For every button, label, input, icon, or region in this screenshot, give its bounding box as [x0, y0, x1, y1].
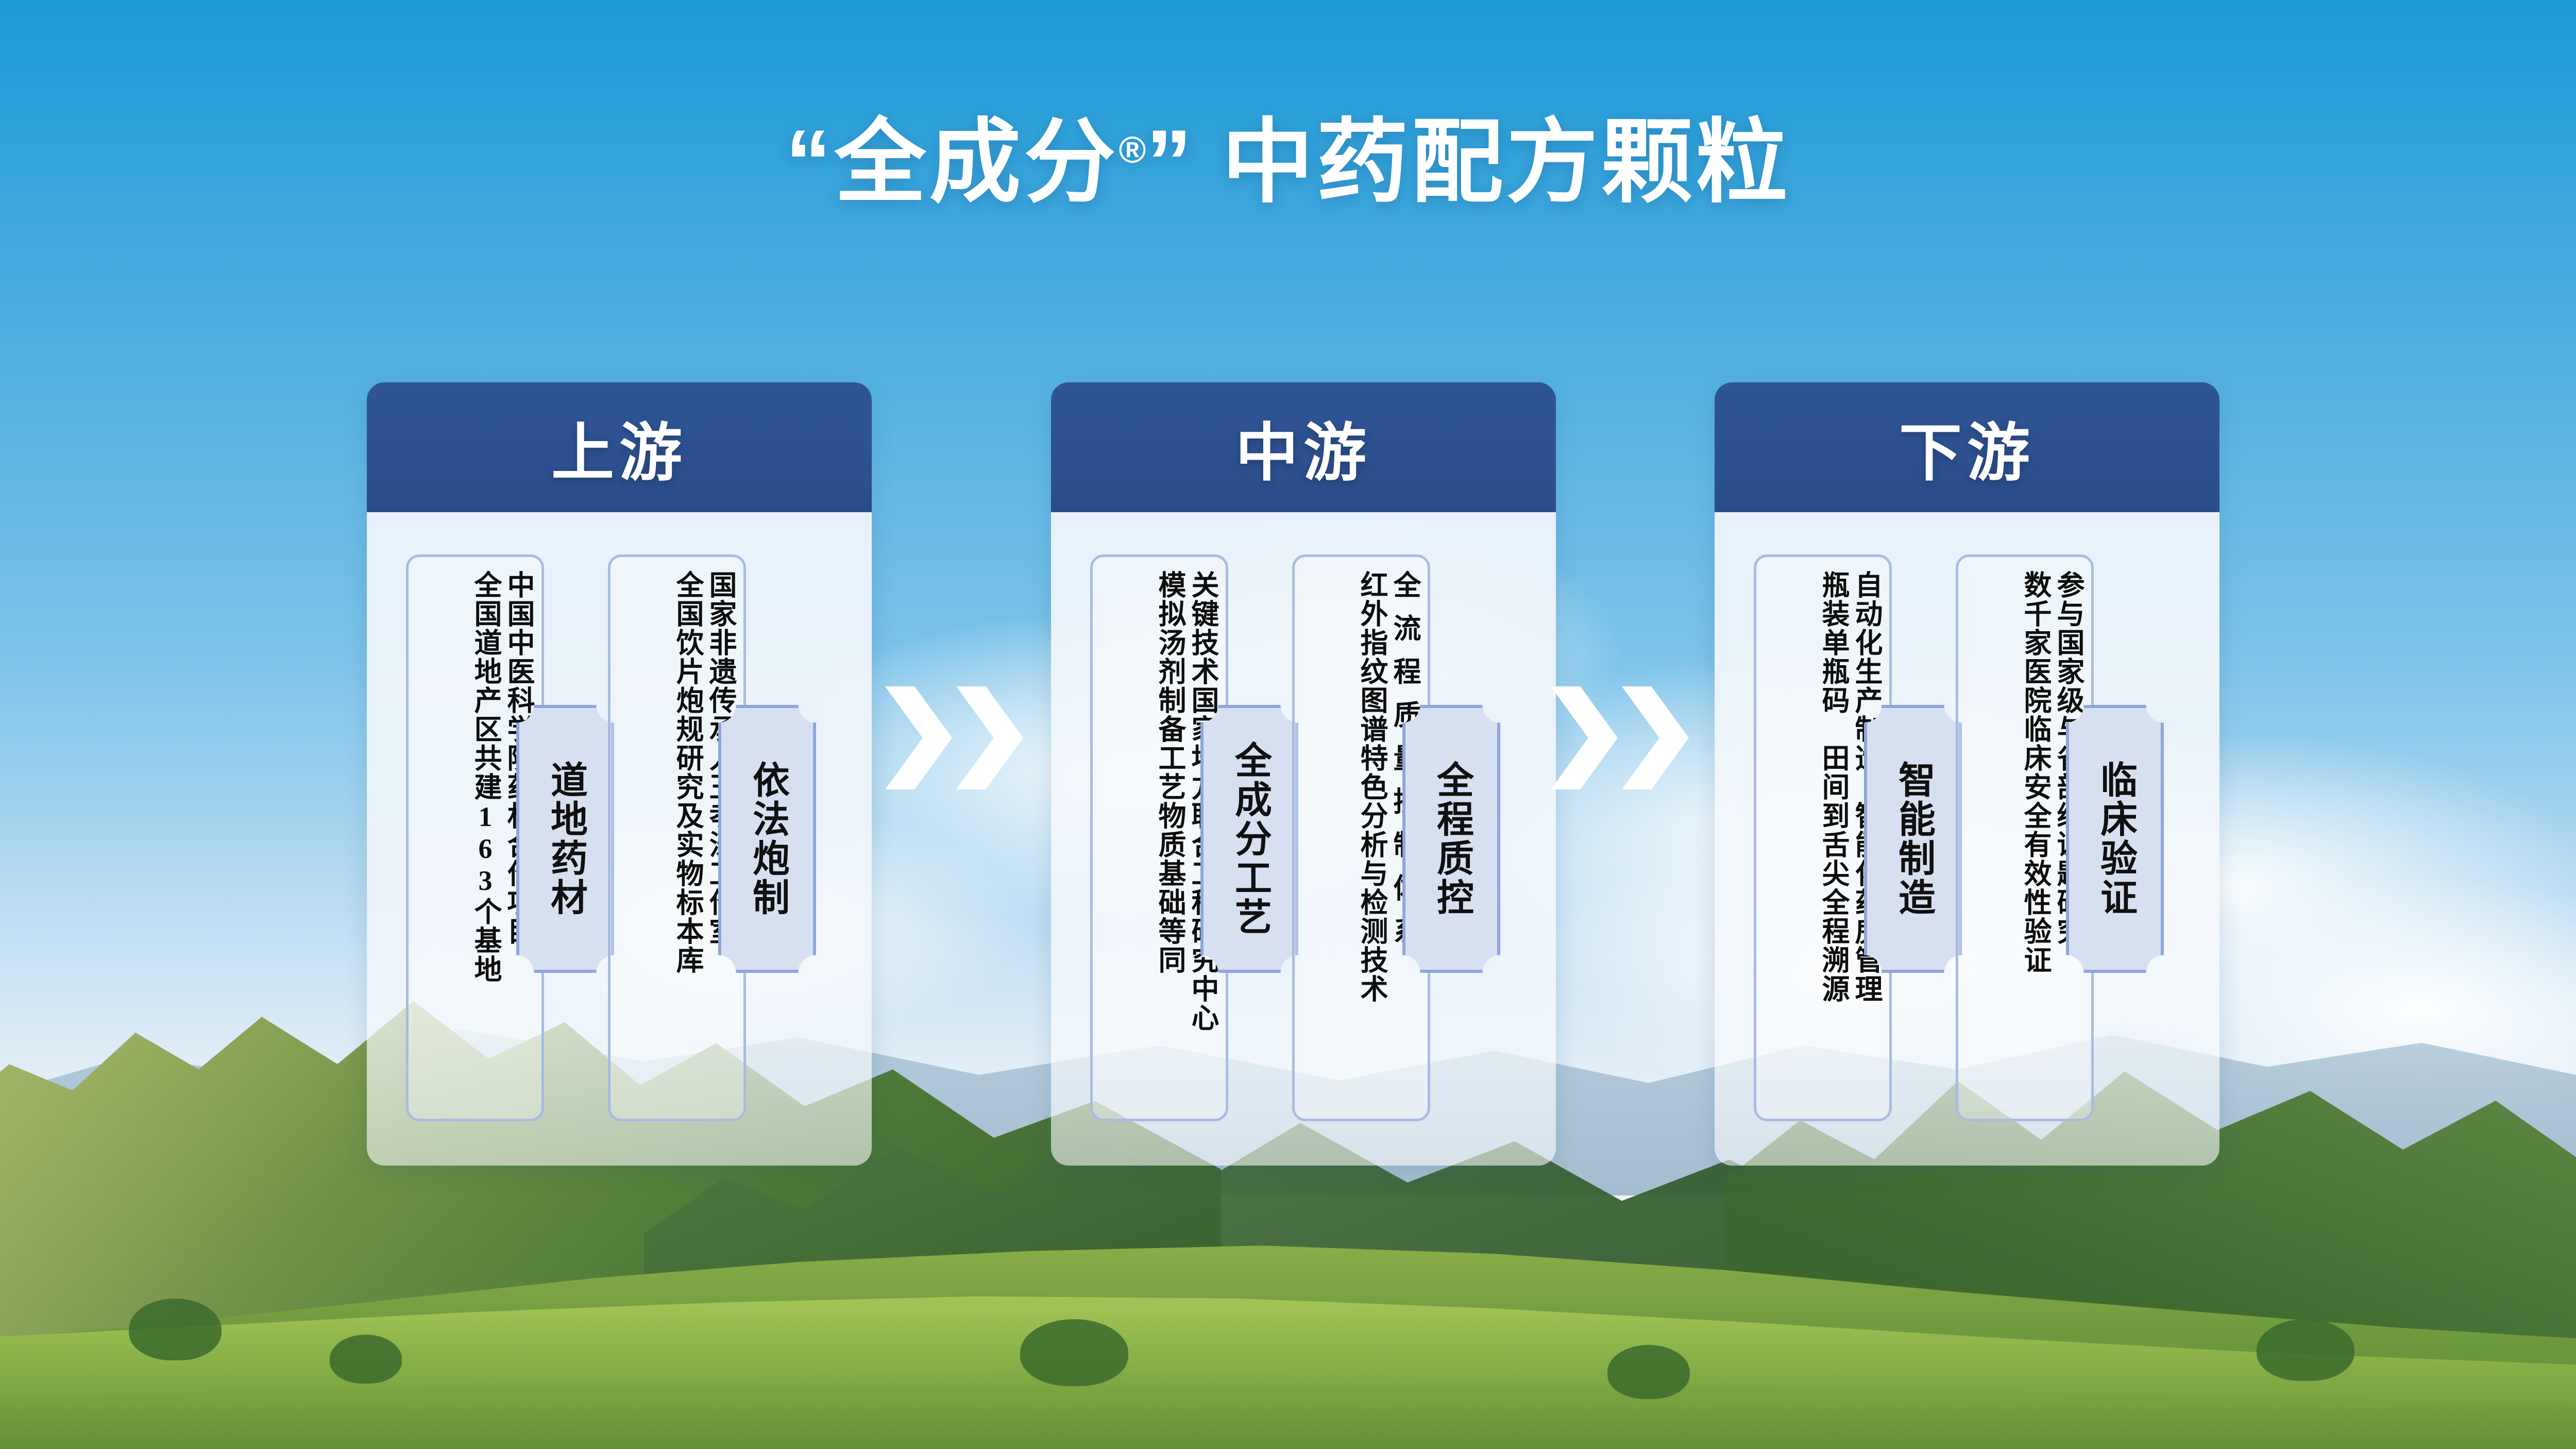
shrub [1607, 1345, 1690, 1399]
feature-group[interactable]: 中国中医科学院药材合作项目 全国道地产区共建163个基地 道地药材 [406, 554, 612, 1121]
feature-group[interactable]: 自动化生产制造 智能化药房管理 瓶装单瓶码 田间到舌尖全程溯源 智能制造 [1754, 554, 1960, 1121]
shrub [2257, 1319, 2354, 1381]
card-header-downstream: 下游 [1715, 382, 2219, 512]
feature-badge-label: 临床验证 [2096, 761, 2134, 917]
card-header-label: 下游 [1899, 402, 2035, 493]
feature-line: 全国饮片炮规研究及实物标本库 [673, 570, 701, 974]
chevron-right-icon [1622, 686, 1689, 789]
chevron-right-icon [885, 686, 952, 789]
title-quote-close: ” [1146, 111, 1195, 213]
chevron-right-icon [956, 686, 1023, 789]
flow-arrow-midstream-to-downstream [1551, 681, 1705, 795]
feature-badge-label: 依法炮制 [748, 761, 787, 917]
feature-badge-label: 智能制造 [1894, 761, 1933, 917]
feature-line: 模拟汤剂制备工艺物质基础等同 [1156, 570, 1183, 974]
feature-group[interactable]: 国家非遗传承人王孝涛工作室 全国饮片炮规研究及实物标本库 依法炮制 [608, 554, 814, 1121]
feature-badge[interactable]: 依法炮制 [718, 705, 816, 973]
card-header-upstream: 上游 [367, 382, 872, 512]
feature-line: 红外指纹图谱特色分析与检测技术 [1358, 570, 1385, 1003]
page-title: “全成分®”中药配方颗粒 [0, 111, 2576, 213]
feature-group[interactable]: 全流程质量控制体系 红外指纹图谱特色分析与检测技术 全程质控 [1292, 554, 1498, 1121]
shrub [129, 1299, 222, 1360]
chevron-right-icon [1551, 686, 1618, 789]
card-header-midstream: 中游 [1051, 382, 1556, 512]
card-body-upstream: 中国中医科学院药材合作项目 全国道地产区共建163个基地 道地药材 国家非遗传承… [367, 512, 872, 1166]
stage-card-midstream[interactable]: 中游 关键技术国家地方联合工程研究中心 模拟汤剂制备工艺物质基础等同 全成分工艺… [1051, 382, 1556, 1166]
title-quote-open: “ [785, 111, 834, 213]
shrub [1020, 1319, 1128, 1386]
title-brand: 全成分 [834, 111, 1118, 213]
feature-line: 瓶装单瓶码 田间到舌尖全程溯源 [1819, 570, 1847, 1003]
feature-line: 全国道地产区共建163个基地 [471, 570, 499, 984]
feature-badge[interactable]: 道地药材 [516, 705, 614, 973]
registered-mark-icon: ® [1118, 130, 1146, 171]
card-header-label: 上游 [551, 402, 687, 493]
card-body-downstream: 自动化生产制造 智能化药房管理 瓶装单瓶码 田间到舌尖全程溯源 智能制造 参与国… [1715, 512, 2219, 1166]
feature-badge[interactable]: 全程质控 [1402, 705, 1500, 973]
feature-badge[interactable]: 临床验证 [2066, 705, 2164, 973]
shrub [330, 1335, 402, 1384]
feature-badge[interactable]: 全成分工艺 [1200, 705, 1298, 973]
card-header-label: 中游 [1235, 402, 1371, 493]
feature-group[interactable]: 关键技术国家地方联合工程研究中心 模拟汤剂制备工艺物质基础等同 全成分工艺 [1090, 554, 1296, 1121]
feature-badge-label: 全成分工艺 [1230, 741, 1269, 937]
feature-badge-label: 道地药材 [546, 761, 585, 917]
feature-badge[interactable]: 智能制造 [1864, 705, 1962, 973]
feature-badge-label: 全程质控 [1432, 761, 1471, 917]
card-body-midstream: 关键技术国家地方联合工程研究中心 模拟汤剂制备工艺物质基础等同 全成分工艺 全流… [1051, 512, 1556, 1166]
stage-card-upstream[interactable]: 上游 中国中医科学院药材合作项目 全国道地产区共建163个基地 道地药材 国家非… [367, 382, 872, 1166]
feature-group[interactable]: 参与国家级与省部级课题研究 数千家医院临床安全有效性验证 临床验证 [1956, 554, 2162, 1121]
stage-card-downstream[interactable]: 下游 自动化生产制造 智能化药房管理 瓶装单瓶码 田间到舌尖全程溯源 智能制造 … [1715, 382, 2219, 1166]
title-rest: 中药配方颗粒 [1222, 111, 1791, 213]
feature-line: 数千家医院临床安全有效性验证 [2021, 570, 2049, 974]
flow-arrow-upstream-to-midstream [885, 681, 1040, 795]
